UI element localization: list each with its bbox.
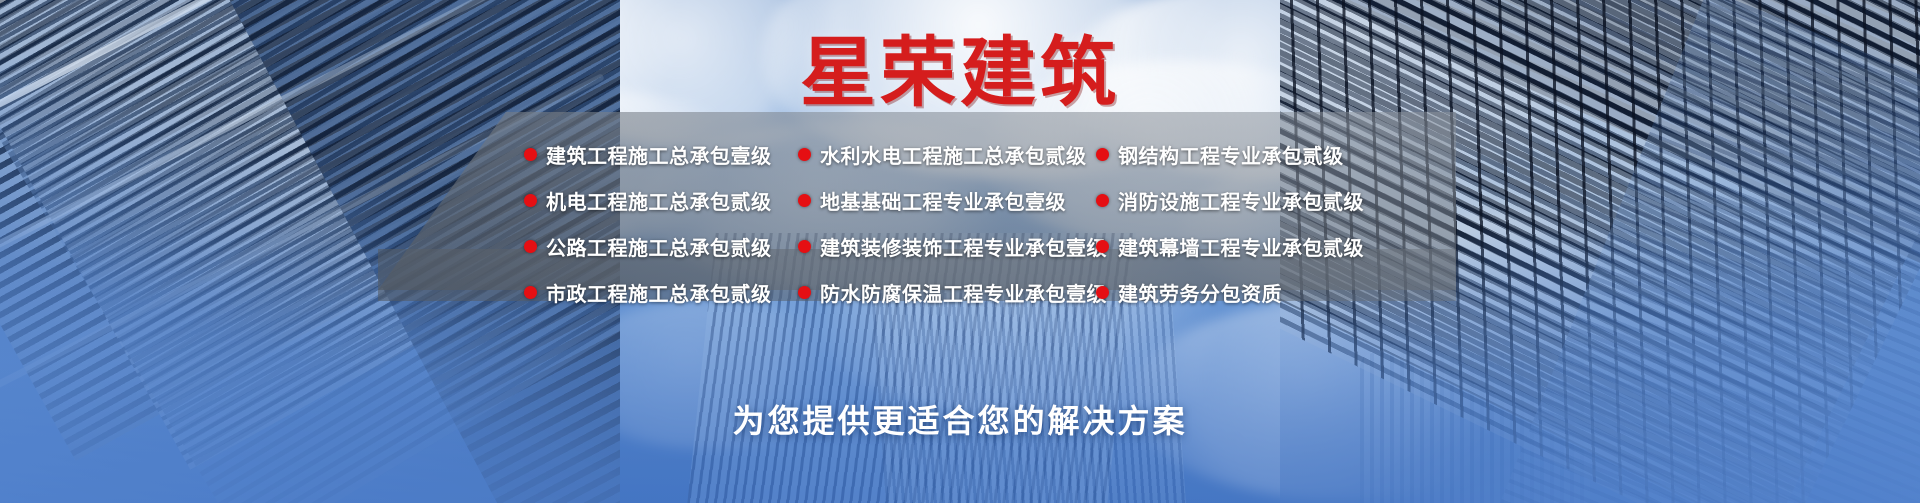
red-dot-icon xyxy=(524,194,537,207)
qualification-label: 消防设施工程专业承包贰级 xyxy=(1118,186,1364,215)
company-title: 星荣建筑 xyxy=(0,34,1920,112)
qualification-label: 机电工程施工总承包贰级 xyxy=(546,186,772,215)
qualification-label: 建筑幕墙工程专业承包贰级 xyxy=(1118,232,1364,261)
qualification-item: 建筑劳务分包资质 xyxy=(1096,278,1396,307)
red-dot-icon xyxy=(1096,286,1109,299)
qualification-item: 钢结构工程专业承包贰级 xyxy=(1096,140,1396,169)
qualification-label: 市政工程施工总承包贰级 xyxy=(546,278,772,307)
qualification-item: 地基基础工程专业承包壹级 xyxy=(798,186,1098,215)
red-dot-icon xyxy=(798,286,811,299)
red-dot-icon xyxy=(1096,148,1109,161)
red-dot-icon xyxy=(524,286,537,299)
qualification-label: 公路工程施工总承包贰级 xyxy=(546,232,772,261)
qualification-item: 市政工程施工总承包贰级 xyxy=(524,278,814,307)
qualification-label: 建筑装修装饰工程专业承包壹级 xyxy=(820,232,1107,261)
red-dot-icon xyxy=(524,148,537,161)
hero-tagline: 为您提供更适合您的解决方案 xyxy=(0,396,1920,442)
qualification-item: 建筑工程施工总承包壹级 xyxy=(524,140,814,169)
red-dot-icon xyxy=(798,194,811,207)
qualification-item: 建筑装修装饰工程专业承包壹级 xyxy=(798,232,1098,261)
qualification-item: 消防设施工程专业承包贰级 xyxy=(1096,186,1396,215)
qualification-item: 机电工程施工总承包贰级 xyxy=(524,186,814,215)
qualification-label: 建筑工程施工总承包壹级 xyxy=(546,140,772,169)
qualification-columns: 建筑工程施工总承包壹级 机电工程施工总承包贰级 公路工程施工总承包贰级 市政工程… xyxy=(378,112,1456,302)
qualification-label: 钢结构工程专业承包贰级 xyxy=(1118,140,1344,169)
qualification-label: 防水防腐保温工程专业承包壹级 xyxy=(820,278,1107,307)
qualification-column-3: 钢结构工程专业承包贰级 消防设施工程专业承包贰级 建筑幕墙工程专业承包贰级 建筑… xyxy=(1096,140,1396,302)
qualification-column-2: 水利水电工程施工总承包贰级 地基基础工程专业承包壹级 建筑装修装饰工程专业承包壹… xyxy=(798,140,1098,302)
qualification-label: 建筑劳务分包资质 xyxy=(1118,278,1282,307)
qualification-item: 公路工程施工总承包贰级 xyxy=(524,232,814,261)
qualification-item: 建筑幕墙工程专业承包贰级 xyxy=(1096,232,1396,261)
company-hero-banner: 星荣建筑 建筑工程施工总承包壹级 机电工程施工总承包贰级 公路工程施工总承包贰级… xyxy=(0,0,1920,503)
qualification-item: 水利水电工程施工总承包贰级 xyxy=(798,140,1098,169)
red-dot-icon xyxy=(798,148,811,161)
qualification-column-1: 建筑工程施工总承包壹级 机电工程施工总承包贰级 公路工程施工总承包贰级 市政工程… xyxy=(524,140,814,302)
qualification-label: 水利水电工程施工总承包贰级 xyxy=(820,140,1087,169)
qualification-item: 防水防腐保温工程专业承包壹级 xyxy=(798,278,1098,307)
red-dot-icon xyxy=(798,240,811,253)
red-dot-icon xyxy=(1096,194,1109,207)
red-dot-icon xyxy=(524,240,537,253)
red-dot-icon xyxy=(1096,240,1109,253)
qualification-label: 地基基础工程专业承包壹级 xyxy=(820,186,1066,215)
